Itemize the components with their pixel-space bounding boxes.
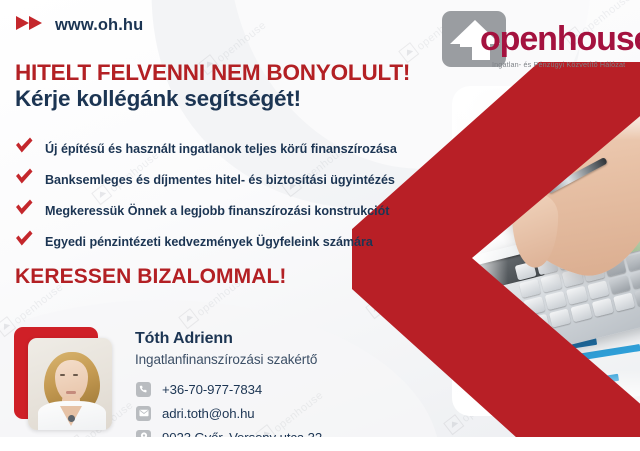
flyer-canvas: openhouse openhouse openhouse openhouse …: [0, 0, 640, 451]
check-icon: [14, 137, 34, 160]
phone-icon: [136, 382, 151, 397]
avatar: [14, 327, 114, 431]
agent-portrait: [28, 338, 112, 430]
envelope-icon: [136, 406, 151, 421]
list-item-label: Banksemleges és díjmentes hitel- és bizt…: [45, 173, 395, 187]
contact-phone[interactable]: +36-70-977-7834: [136, 377, 326, 401]
list-item-label: Egyedi pénzintézeti kedvezmények Ügyfele…: [45, 235, 373, 249]
double-triangle-play-icon: [16, 16, 42, 35]
agent-card: Tóth Adrienn Ingatlanfinanszírozási szak…: [14, 327, 414, 439]
list-item-label: Megkeressük Önnek a legjobb finanszírozá…: [45, 204, 389, 218]
contact-phone-value[interactable]: +36-70-977-7834: [162, 382, 262, 397]
list-item: Egyedi pénzintézeti kedvezmények Ügyfele…: [14, 226, 484, 257]
agent-role: Ingatlanfinanszírozási szakértő: [135, 352, 317, 367]
contact-email-value[interactable]: adri.toth@oh.hu: [162, 406, 255, 421]
website-url[interactable]: www.oh.hu: [55, 16, 143, 35]
call-to-action-text: KERESSEN BIZALOMMAL!: [15, 265, 287, 289]
logo-tagline: Ingatlan- és Pénzügyi Közvetítő Hálózat: [492, 60, 625, 69]
openhouse-logo[interactable]: openhouse Ingatlan- és Pénzügyi Közvetít…: [422, 8, 638, 80]
contact-email[interactable]: adri.toth@oh.hu: [136, 401, 326, 425]
list-item: Megkeressük Önnek a legjobb finanszírozá…: [14, 195, 484, 226]
bottom-band: [0, 437, 640, 451]
logo-wordmark: openhouse: [480, 20, 640, 59]
list-item-label: Új építésű és használt ingatlanok teljes…: [45, 142, 397, 156]
website-row[interactable]: www.oh.hu: [16, 16, 143, 35]
headline-line-1: HITELT FELVENNI NEM BONYOLULT!: [15, 60, 410, 86]
headline-line-2: Kérje kollégánk segítségét!: [15, 86, 301, 112]
check-icon: [14, 199, 34, 222]
check-icon: [14, 230, 34, 253]
benefits-list: Új építésű és használt ingatlanok teljes…: [14, 133, 484, 257]
list-item: Új építésű és használt ingatlanok teljes…: [14, 133, 484, 164]
list-item: Banksemleges és díjmentes hitel- és bizt…: [14, 164, 484, 195]
check-icon: [14, 168, 34, 191]
agent-name: Tóth Adrienn: [135, 330, 233, 348]
